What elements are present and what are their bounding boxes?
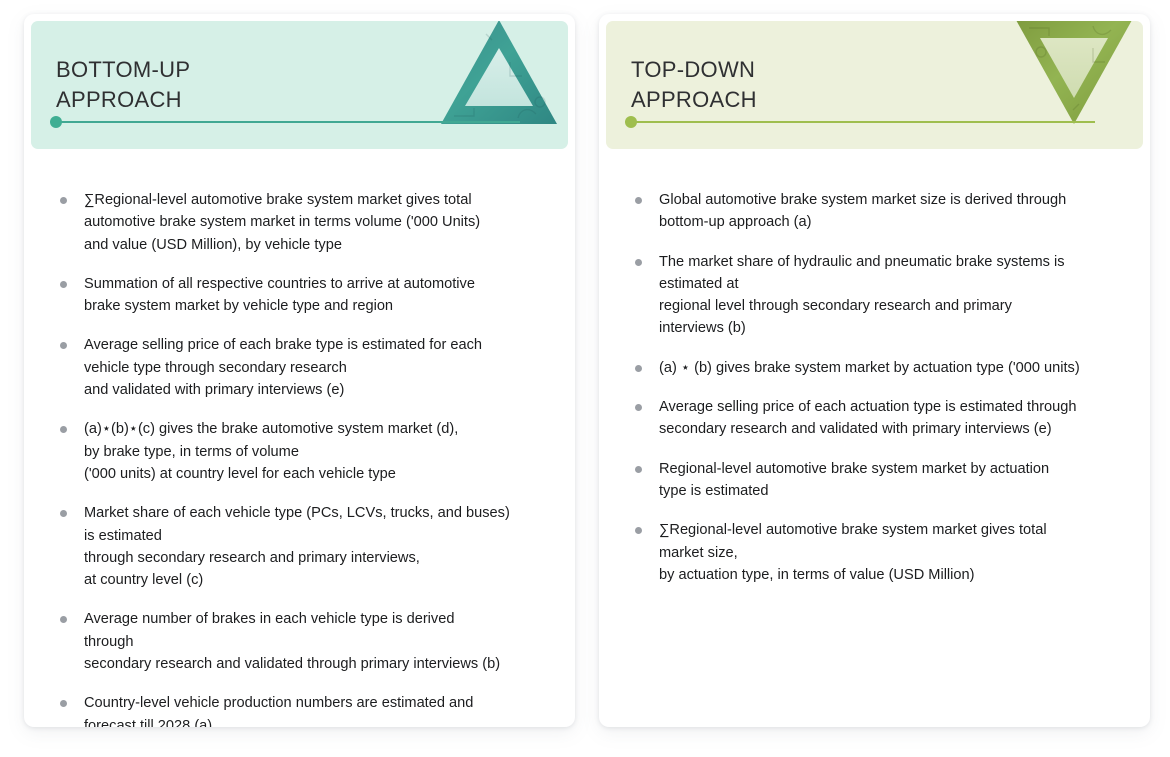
list-item: Global automotive brake system market si… xyxy=(631,189,1130,234)
card-title-top-down: TOP-DOWN APPROACH xyxy=(631,55,757,115)
card-header-top-down: TOP-DOWN APPROACH xyxy=(606,21,1143,149)
list-item: The market share of hydraulic and pneuma… xyxy=(631,251,1130,340)
card-title-bottom-up: BOTTOM-UP APPROACH xyxy=(56,55,190,115)
accent-dot-bottom-up xyxy=(50,116,62,128)
card-bottom-up: BOTTOM-UP APPROACH xyxy=(24,14,575,727)
list-item: ∑Regional-level automotive brake system … xyxy=(56,189,555,256)
accent-rule-bottom-up xyxy=(56,121,520,123)
list-item: Regional-level automotive brake system m… xyxy=(631,458,1130,503)
list-item: Average selling price of each brake type… xyxy=(56,334,555,401)
triangle-down-icon xyxy=(1015,21,1133,126)
triangle-up-icon xyxy=(440,21,558,126)
list-item: (a)⋆(b)⋆(c) gives the brake automotive s… xyxy=(56,418,555,485)
list-item: Market share of each vehicle type (PCs, … xyxy=(56,502,555,591)
accent-rule-top-down xyxy=(631,121,1095,123)
list-item: ∑Regional-level automotive brake system … xyxy=(631,519,1130,586)
list-item: Summation of all respective countries to… xyxy=(56,273,555,318)
page-root: BOTTOM-UP APPROACH xyxy=(0,0,1170,757)
bullet-list-bottom-up: ∑Regional-level automotive brake system … xyxy=(24,149,575,727)
list-item: Average number of brakes in each vehicle… xyxy=(56,608,555,675)
accent-dot-top-down xyxy=(625,116,637,128)
list-item: Country-level vehicle production numbers… xyxy=(56,692,555,727)
card-header-bottom-up: BOTTOM-UP APPROACH xyxy=(31,21,568,149)
list-item: (a) ⋆ (b) gives brake system market by a… xyxy=(631,357,1130,379)
card-top-down: TOP-DOWN APPROACH xyxy=(599,14,1150,727)
bullet-list-top-down: Global automotive brake system market si… xyxy=(599,149,1150,586)
list-item: Average selling price of each actuation … xyxy=(631,396,1130,441)
